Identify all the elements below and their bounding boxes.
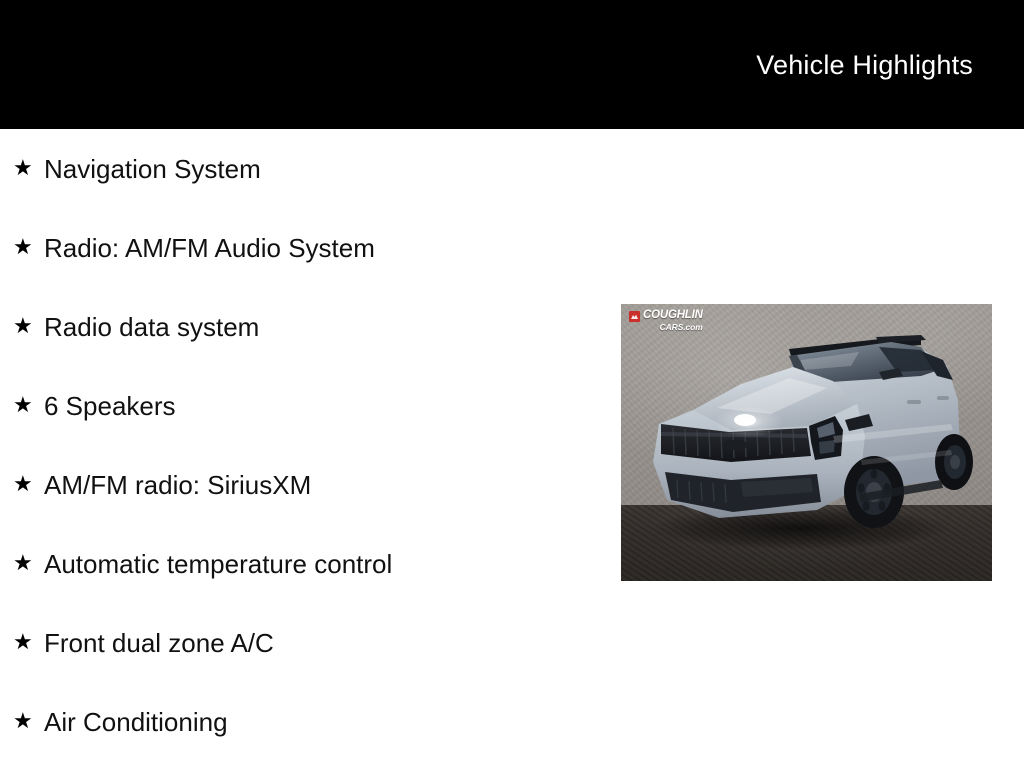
coughlin-logo-icon: [629, 311, 640, 322]
highlight-label: Radio: AM/FM Audio System: [44, 233, 375, 263]
list-item: ★ Air Conditioning: [0, 682, 600, 761]
list-item: ★ AM/FM radio: SiriusXM: [0, 445, 600, 524]
list-item: ★ Automatic temperature control: [0, 524, 600, 603]
highlight-label: Front dual zone A/C: [44, 628, 274, 658]
star-bullet-icon: ★: [13, 631, 44, 653]
watermark-line-2: CARS.com: [643, 323, 703, 332]
page-title: Vehicle Highlights: [756, 49, 973, 81]
star-bullet-icon: ★: [13, 394, 44, 416]
highlight-label: AM/FM radio: SiriusXM: [44, 470, 311, 500]
list-item: ★ 6 Speakers: [0, 366, 600, 445]
star-bullet-icon: ★: [13, 473, 44, 495]
vehicle-svg: [621, 304, 992, 581]
star-bullet-icon: ★: [13, 236, 44, 258]
watermark-text: COUGHLIN CARS.com: [643, 310, 703, 331]
list-item: ★ Front dual zone A/C: [0, 603, 600, 682]
list-item: ★ Navigation System: [0, 129, 600, 208]
highlight-label: Air Conditioning: [44, 707, 228, 737]
highlight-label: Navigation System: [44, 154, 261, 184]
star-bullet-icon: ★: [13, 157, 44, 179]
star-bullet-icon: ★: [13, 552, 44, 574]
dealer-watermark: COUGHLIN CARS.com: [629, 310, 703, 331]
star-bullet-icon: ★: [13, 315, 44, 337]
star-bullet-icon: ★: [13, 710, 44, 732]
highlight-label: Radio data system: [44, 312, 259, 342]
list-item: ★ Radio: AM/FM Audio System: [0, 208, 600, 287]
watermark-line-1: COUGHLIN: [643, 310, 703, 322]
vehicle-highlights-list: ★ Navigation System ★ Radio: AM/FM Audio…: [0, 129, 600, 761]
header-band: Vehicle Highlights: [0, 0, 1024, 129]
vehicle-highlights-slide: Vehicle Highlights ★ Navigation System ★…: [0, 0, 1024, 768]
vehicle-photo: COUGHLIN CARS.com: [621, 304, 992, 581]
vehicle-illustration: [621, 304, 992, 581]
list-item: ★ Radio data system: [0, 287, 600, 366]
highlight-label: 6 Speakers: [44, 391, 176, 421]
highlight-label: Automatic temperature control: [44, 549, 392, 579]
